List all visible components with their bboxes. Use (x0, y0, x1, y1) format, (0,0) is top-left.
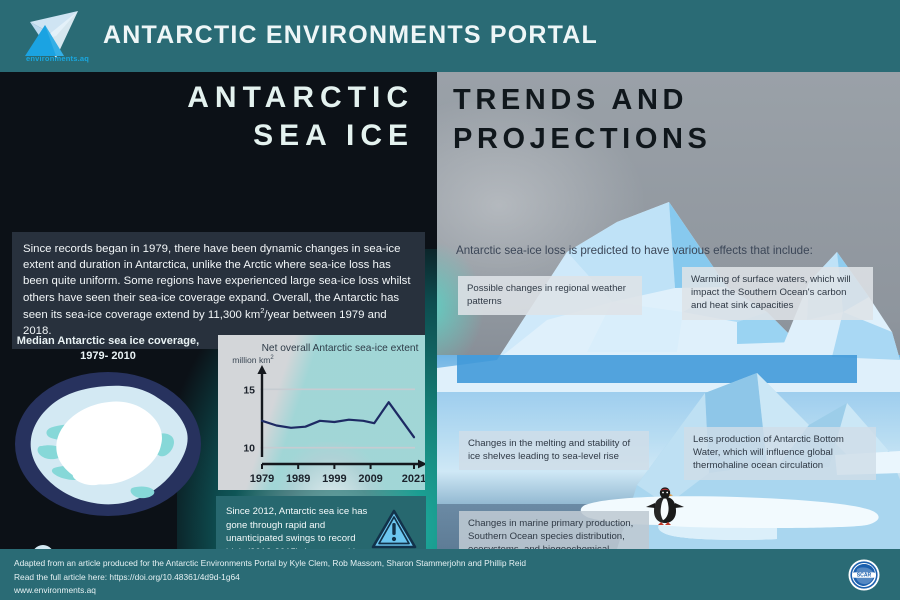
callout-ice-shelves: Changes in the melting and stability of … (459, 431, 649, 470)
warning-text: Since 2012, Antarctic sea ice has gone t… (226, 505, 374, 549)
left-panel-title: ANTARCTIC SEA ICE (0, 79, 437, 155)
chart-xtick-label: 1989 (286, 473, 310, 485)
scar-logo-icon[interactable]: SCAR (846, 557, 882, 593)
chart-xtick-label: 2009 (358, 473, 382, 485)
left-panel: ANTARCTIC SEA ICE Since records began in… (0, 72, 437, 549)
footer-line-2[interactable]: Read the full article here: https://doi.… (14, 571, 526, 585)
chart-xtick-label: 1999 (322, 473, 346, 485)
chart-y-axis-arrow (257, 365, 266, 374)
infographic-page: environments.aq ANTARCTIC ENVIRONMENTS P… (0, 0, 900, 600)
right-panel-title: TRENDS AND PROJECTIONS (453, 81, 711, 158)
footer-line-3[interactable]: www.environments.aq (14, 584, 526, 598)
intro-text-box: Since records began in 1979, there have … (12, 232, 425, 349)
environments-aq-logo[interactable]: environments.aq (12, 6, 90, 68)
antarctica-map (14, 372, 202, 517)
chart-ytick-label: 15 (243, 384, 255, 396)
chart-xtick-label: 1979 (250, 473, 274, 485)
scar-logo-text: SCAR (857, 573, 872, 579)
right-title-line2: PROJECTIONS (453, 120, 711, 159)
footer-line-1: Adapted from an article produced for the… (14, 557, 526, 571)
right-title-line1: TRENDS AND (453, 81, 711, 120)
warning-box: Since 2012, Antarctic sea ice has gone t… (216, 496, 426, 549)
callout-marine-production: Changes in marine primary production, So… (459, 511, 649, 549)
callout-bottom-water: Less production of Antarctic Bottom Wate… (684, 427, 876, 480)
left-title-line1: ANTARCTIC (0, 79, 414, 117)
chart-line-series (262, 402, 414, 437)
logo-wordmark: environments.aq (26, 54, 89, 63)
chart-ytick-label: 10 (243, 443, 255, 455)
chart-xtick-label: 2021 (402, 473, 425, 485)
page-title: ANTARCTIC ENVIRONMENTS PORTAL (103, 21, 598, 50)
chart-x-axis-arrow (418, 460, 425, 469)
callout-surface-warming: Warming of surface waters, which will im… (682, 267, 873, 320)
sea-ice-extent-chart: Net overall Antarctic sea-ice extent mil… (218, 335, 425, 490)
footer-credits: Adapted from an article produced for the… (14, 557, 526, 598)
right-panel: TRENDS AND PROJECTIONS Antarctic sea-ice… (437, 72, 900, 549)
callout-weather-patterns: Possible changes in regional weather pat… (458, 276, 642, 315)
warning-triangle-icon (371, 508, 417, 549)
antarctica-map-icon (14, 372, 202, 517)
page-footer: Adapted from an article produced for the… (0, 549, 900, 600)
page-header: environments.aq ANTARCTIC ENVIRONMENTS P… (0, 0, 900, 72)
right-panel-subtitle: Antarctic sea-ice loss is predicted to h… (456, 244, 813, 257)
chart-plot: 101519791989199920092021 (218, 335, 425, 490)
left-title-line2: SEA ICE (0, 117, 414, 155)
map-title: Median Antarctic sea ice coverage, 1979-… (8, 334, 208, 364)
